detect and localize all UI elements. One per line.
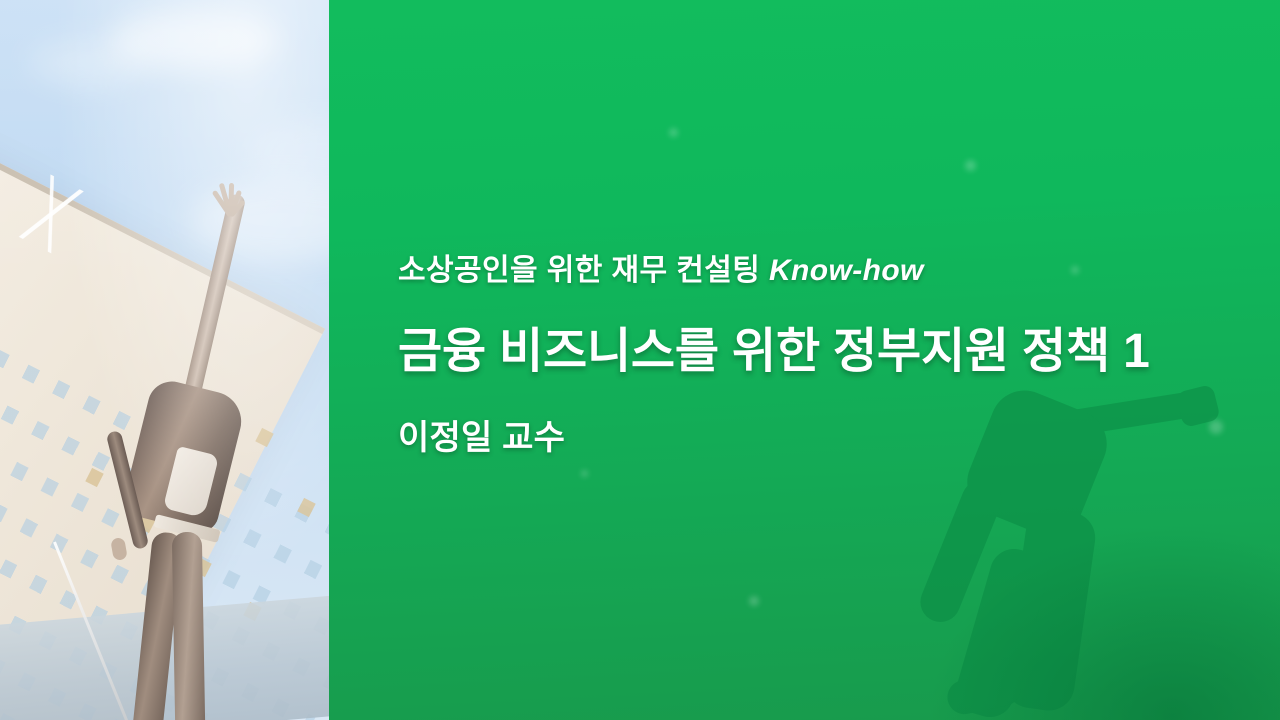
series-subtitle-latin: Know-how	[769, 254, 924, 287]
page-title: 금융 비즈니스를 위한 정부지원 정책 1	[398, 324, 1218, 381]
series-subtitle-korean: 소상공인을 위한 재무 컨설팅	[398, 254, 760, 287]
left-photo-panel	[0, 0, 329, 720]
statue-lower-hand	[110, 537, 128, 561]
presenter-name: 이정일 교수	[398, 410, 1218, 459]
series-subtitle: 소상공인을 위한 재무 컨설팅 Know-how	[398, 252, 1218, 290]
statue-figure	[58, 150, 288, 710]
title-text-block: 소상공인을 위한 재무 컨설팅 Know-how 금융 비즈니스를 위한 정부지…	[398, 252, 1218, 459]
title-card: 소상공인을 위한 재무 컨설팅 Know-how 금융 비즈니스를 위한 정부지…	[0, 0, 1280, 720]
statue-leg	[172, 532, 206, 720]
statue-hand	[210, 168, 254, 216]
cloud-decor	[30, 40, 150, 86]
light-speck	[749, 596, 759, 606]
statue-raised-arm	[183, 193, 247, 401]
corner-vignette	[920, 520, 1280, 720]
light-speck	[581, 470, 588, 477]
light-speck	[669, 128, 678, 137]
light-speck	[965, 160, 976, 171]
